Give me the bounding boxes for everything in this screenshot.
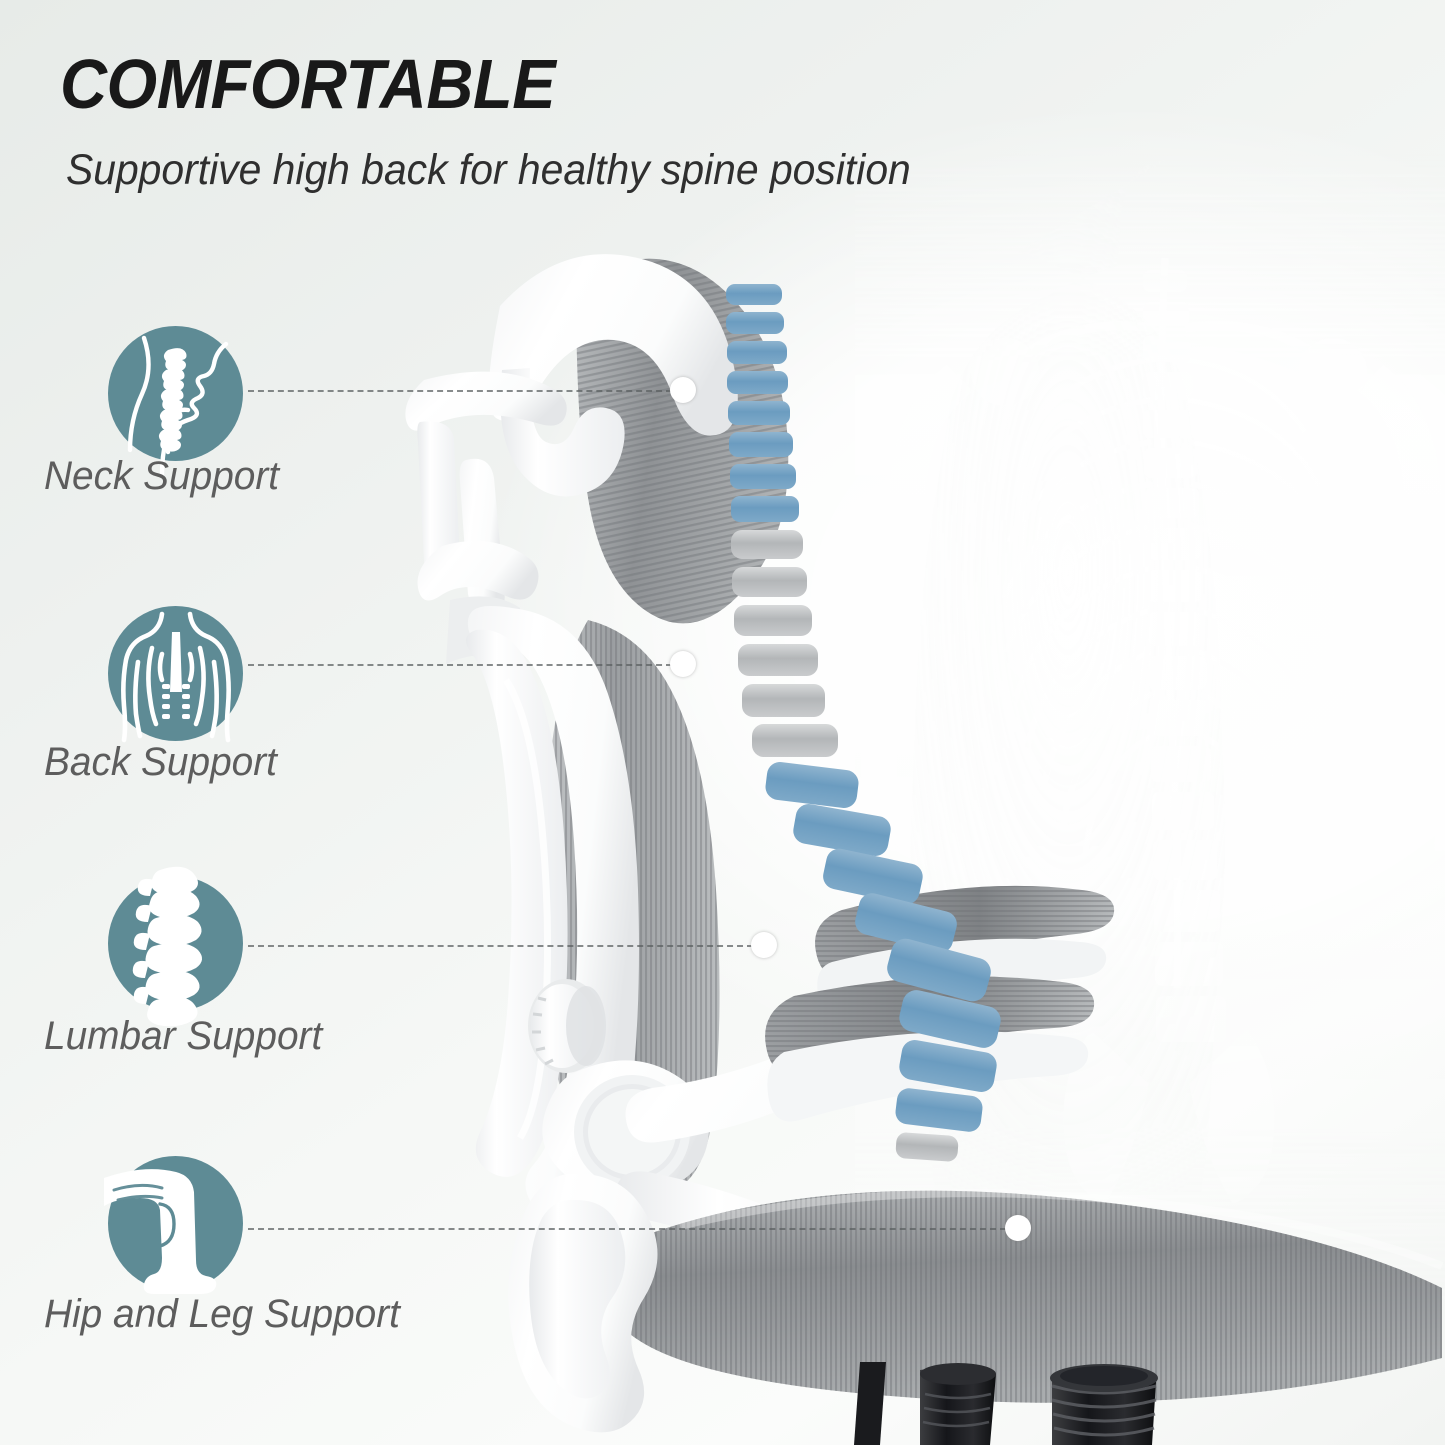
connector-line-hip-leg xyxy=(248,1228,1006,1230)
back-torso-spine-icon xyxy=(108,606,243,741)
connector-line-neck xyxy=(248,390,672,392)
marker-dot-back xyxy=(670,651,696,677)
feature-label-hip-leg: Hip and Leg Support xyxy=(44,1292,400,1337)
hip-leg-knee-icon xyxy=(108,1156,243,1291)
page-title: COMFORTABLE xyxy=(60,44,555,124)
marker-dot-neck xyxy=(670,377,696,403)
office-chair-illustration xyxy=(380,210,1445,1445)
neck-spine-profile-icon xyxy=(108,326,243,461)
lumbar-vertebrae-icon xyxy=(108,876,243,1011)
connector-line-back xyxy=(248,664,672,666)
feature-label-lumbar: Lumbar Support xyxy=(44,1014,322,1059)
feature-label-back: Back Support xyxy=(44,740,277,785)
page-subtitle: Supportive high back for healthy spine p… xyxy=(66,146,911,195)
feature-label-neck: Neck Support xyxy=(44,454,279,499)
marker-dot-lumbar xyxy=(751,932,777,958)
infographic-canvas: COMFORTABLE Supportive high back for hea… xyxy=(0,0,1445,1445)
connector-line-lumbar xyxy=(248,945,753,947)
marker-dot-hip-leg xyxy=(1005,1215,1031,1241)
